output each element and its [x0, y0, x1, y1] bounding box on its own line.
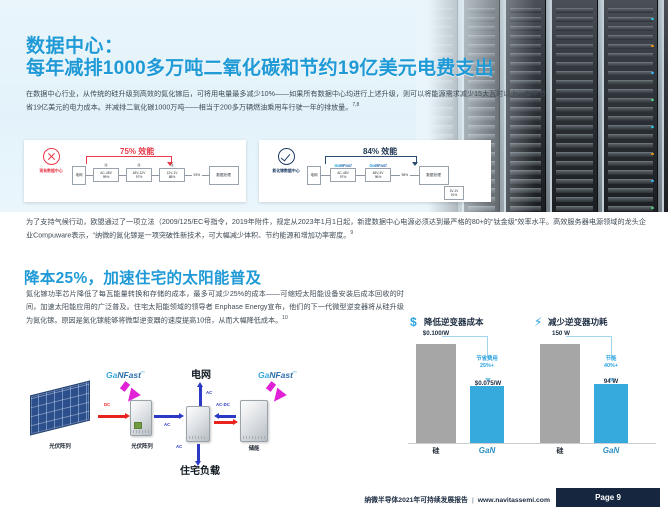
- silicon-side-label: 现有数据中心: [30, 168, 72, 173]
- gan-node-ac48v-pct: 97%: [340, 175, 347, 179]
- diagram-card-silicon: 现有数据中心 75% 效能 电网 硅 AC-48V 99% 硅 48V-12V …: [24, 140, 246, 202]
- footer-separator: |: [468, 497, 478, 504]
- chart-cost-annotation: 节省费用 25%+: [460, 356, 514, 370]
- flow-label-ac-home: AC: [176, 444, 182, 449]
- flow-label-dc: DC: [104, 402, 110, 407]
- silicon-link-2: [119, 175, 126, 176]
- silicon-inline-pct: 93%: [192, 173, 202, 177]
- gan-node-grid: 电网: [307, 166, 321, 184]
- silicon-link-5: [202, 175, 209, 176]
- mid-paragraph-text: 为了支持气候行动，欧盟通过了一项立法（2009/125/EC号指令，2019年附…: [26, 218, 646, 239]
- home-load-label: 住宅负载: [158, 462, 242, 477]
- section-footnote-ref: 10: [282, 315, 288, 321]
- silicon-node-48v12v-pct: 97%: [136, 175, 143, 179]
- gan-node-dataprocessing: 数据处理: [419, 166, 449, 185]
- silicon-node-ac48v-pct: 99%: [103, 175, 110, 179]
- gan-link-4: [410, 175, 419, 176]
- footer-text: 纳微半导体2021年可持续发展报告|www.navitassemi.com: [364, 494, 550, 504]
- chart-cost-connector: [442, 336, 488, 358]
- mid-footnote-ref: 9: [350, 230, 353, 236]
- chart-power-bar-silicon: [540, 344, 580, 444]
- chart-cost-annotation-line2: 25%+: [460, 363, 514, 370]
- gan-node-48v3v: GaNFast 48V-3V 96%: [365, 168, 391, 182]
- mid-paragraph: 为了支持气候行动，欧盟通过了一项立法（2009/125/EC号指令，2019年附…: [26, 216, 646, 243]
- chart-cost-category-gan: GaN: [467, 446, 507, 455]
- page-title: 数据中心： 每年减排1000多万吨二氧化碳和节约19亿美元电费支出: [26, 36, 496, 81]
- hero-footnote-ref: 7,8: [352, 102, 359, 108]
- gan-subnode-3v1v: 3V-1V 91%: [444, 186, 464, 200]
- silicon-link-3: [152, 175, 159, 176]
- gan-power-chain: 电网 GaNFast AC-48V 97% GaNFast 48V-3V 96%…: [307, 166, 449, 185]
- silicon-link-4: [185, 175, 192, 176]
- grid-label: 电网: [166, 366, 236, 381]
- hero-paragraph-text: 在数据中心行业，从传统的硅升级到高效的氮化镓后，可将用电量最多减少10%——如果…: [26, 90, 546, 111]
- inverter-device-icon: [130, 400, 152, 436]
- chart-cost-value-gan: $0.075/W: [460, 380, 516, 387]
- silicon-side-label-group: 现有数据中心: [30, 148, 72, 173]
- silicon-link-1: [86, 175, 93, 176]
- silicon-node-dataprocessing: 数据处理: [209, 166, 239, 185]
- footer-url[interactable]: www.navitassemi.com: [478, 497, 550, 504]
- gan-side-label-group: 氮化镓数据中心: [265, 148, 307, 173]
- junction-box-icon: [186, 406, 210, 442]
- silicon-power-chain: 电网 硅 AC-48V 99% 硅 48V-12V 97% 硅 12V-1V: [72, 166, 239, 185]
- chart-power-connector: [566, 336, 612, 358]
- chart-power-category-gan: GaN: [591, 446, 631, 455]
- section-paragraph: 氮化镓功率芯片降低了每瓦能量转换和存储的成本，最多可减少25%的成本——可缩短太…: [26, 288, 404, 328]
- x-circle-icon: [43, 148, 60, 165]
- silicon-node-grid: 电网: [72, 166, 86, 184]
- chart-inverter-cost: $ 降低逆变器成本 $0.100/W 节省费用 25%+ $0.075/W 硅 …: [408, 316, 532, 466]
- hero-paragraph: 在数据中心行业，从传统的硅升级到高效的氮化镓后，可将用电量最多减少10%——如果…: [26, 88, 546, 115]
- silicon-node-ac48v: 硅 AC-48V 99%: [93, 168, 119, 182]
- pv-array-icon: [30, 381, 90, 436]
- silicon-mark-2: 硅: [137, 164, 140, 168]
- arrow-ac-to-junction: [154, 414, 184, 418]
- arrow-storage-to-junction: [214, 414, 236, 418]
- silicon-node-12v1v-pct: 88%: [169, 175, 176, 179]
- silicon-node-12v1v: 硅 12V-1V 88%: [159, 168, 185, 182]
- chart-power-annotation-line1: 节能: [586, 356, 636, 363]
- inverter-label: 光伏阵列: [122, 442, 162, 450]
- solar-system-diagram: 光伏阵列 DC GaNFast™ 光伏阵列 AC 电网 AC AC 住宅负载: [18, 344, 406, 474]
- hero-title-line1: 数据中心：: [26, 36, 496, 58]
- ganfast-mark-2: GaNFast: [369, 163, 386, 168]
- arrow-grid-bidirectional: [198, 386, 202, 408]
- chart-cost-axis: [408, 443, 532, 444]
- flow-label-ac-inverter: AC: [164, 422, 170, 427]
- chart-inverter-power: ⚡ 减少逆变器功耗 150 W 节能 40%+ 94 W 硅 GaN: [532, 316, 656, 466]
- chart-power-title: 减少逆变器功耗: [548, 316, 608, 328]
- page-footer: 纳微半导体2021年可持续发展报告|www.navitassemi.com Pa…: [0, 485, 668, 515]
- hero-banner: 数据中心： 每年减排1000多万吨二氧化碳和节约19亿美元电费支出 在数据中心行…: [0, 0, 668, 212]
- arrow-to-home-load: [196, 444, 200, 462]
- gan-link-2: [356, 175, 365, 176]
- chart-power-annotation-line2: 40%+: [586, 363, 636, 370]
- gan-link-3: [391, 175, 400, 176]
- silicon-mark-3: 硅: [170, 164, 173, 168]
- flow-label-ac-dc: AC-DC: [216, 402, 230, 407]
- ganfast-logo-inverter: GaNFast™: [106, 370, 145, 380]
- hero-title-line2: 每年减排1000多万吨二氧化碳和节约19亿美元电费支出: [26, 58, 496, 80]
- chart-power-value-gan: 94 W: [588, 378, 634, 385]
- flow-label-ac-grid: AC: [206, 390, 212, 395]
- gan-node-ac48v: GaNFast AC-48V 97%: [330, 168, 356, 182]
- chart-power-bar-gan: [594, 384, 628, 444]
- chart-cost-bar-gan: [470, 386, 504, 444]
- ganfast-logo-storage: GaNFast™: [258, 370, 297, 380]
- silicon-mark-1: 硅: [104, 164, 107, 168]
- gan-side-label: 氮化镓数据中心: [265, 168, 307, 173]
- chart-power-category-silicon: 硅: [540, 446, 580, 456]
- section-paragraph-text: 氮化镓功率芯片降低了每瓦能量转换和存储的成本，最多可减少25%的成本——可缩短太…: [26, 290, 404, 325]
- section-heading: 降本25%，加速住宅的太阳能普及: [24, 266, 261, 288]
- gan-link-1: [321, 175, 330, 176]
- silicon-bracket: [86, 156, 172, 164]
- footer-report-name: 纳微半导体2021年可持续发展报告: [364, 497, 467, 504]
- pv-array-label: 光伏阵列: [28, 442, 92, 450]
- gan-inline-pct: 98%: [400, 173, 410, 177]
- ganfast-mark-1: GaNFast: [334, 163, 351, 168]
- arrow-dc-to-inverter: [98, 414, 130, 418]
- silicon-node-48v12v: 硅 48V-12V 97%: [126, 168, 152, 182]
- chart-cost-bar-silicon: [416, 344, 456, 444]
- bolt-icon: ⚡: [534, 315, 542, 329]
- ganfast-pointer-arrow-2: [269, 388, 286, 406]
- arrow-junction-to-storage: [214, 420, 238, 424]
- chart-cost-plot: $0.100/W 节省费用 25%+ $0.075/W: [408, 334, 532, 444]
- chart-cost-category-silicon: 硅: [416, 446, 456, 456]
- diagram-card-gan: 氮化镓数据中心 84% 效能 电网 GaNFast AC-48V 97% GaN…: [259, 140, 491, 202]
- chart-cost-title: 降低逆变器成本: [424, 316, 484, 328]
- chart-power-annotation: 节能 40%+: [586, 356, 636, 370]
- gan-subnode-pct: 91%: [451, 193, 457, 197]
- page-number-badge: Page 9: [556, 488, 660, 507]
- chart-power-plot: 150 W 节能 40%+ 94 W: [532, 334, 656, 444]
- storage-label: 储能: [234, 444, 274, 452]
- chart-cost-annotation-line1: 节省费用: [460, 356, 514, 363]
- storage-device-icon: [240, 400, 268, 442]
- gan-node-48v3v-pct: 96%: [375, 175, 382, 179]
- chart-power-axis: [532, 443, 656, 444]
- page-root: 数据中心： 每年减排1000多万吨二氧化碳和节约19亿美元电费支出 在数据中心行…: [0, 0, 668, 515]
- check-circle-icon: [278, 148, 295, 165]
- dollar-icon: $: [410, 315, 417, 329]
